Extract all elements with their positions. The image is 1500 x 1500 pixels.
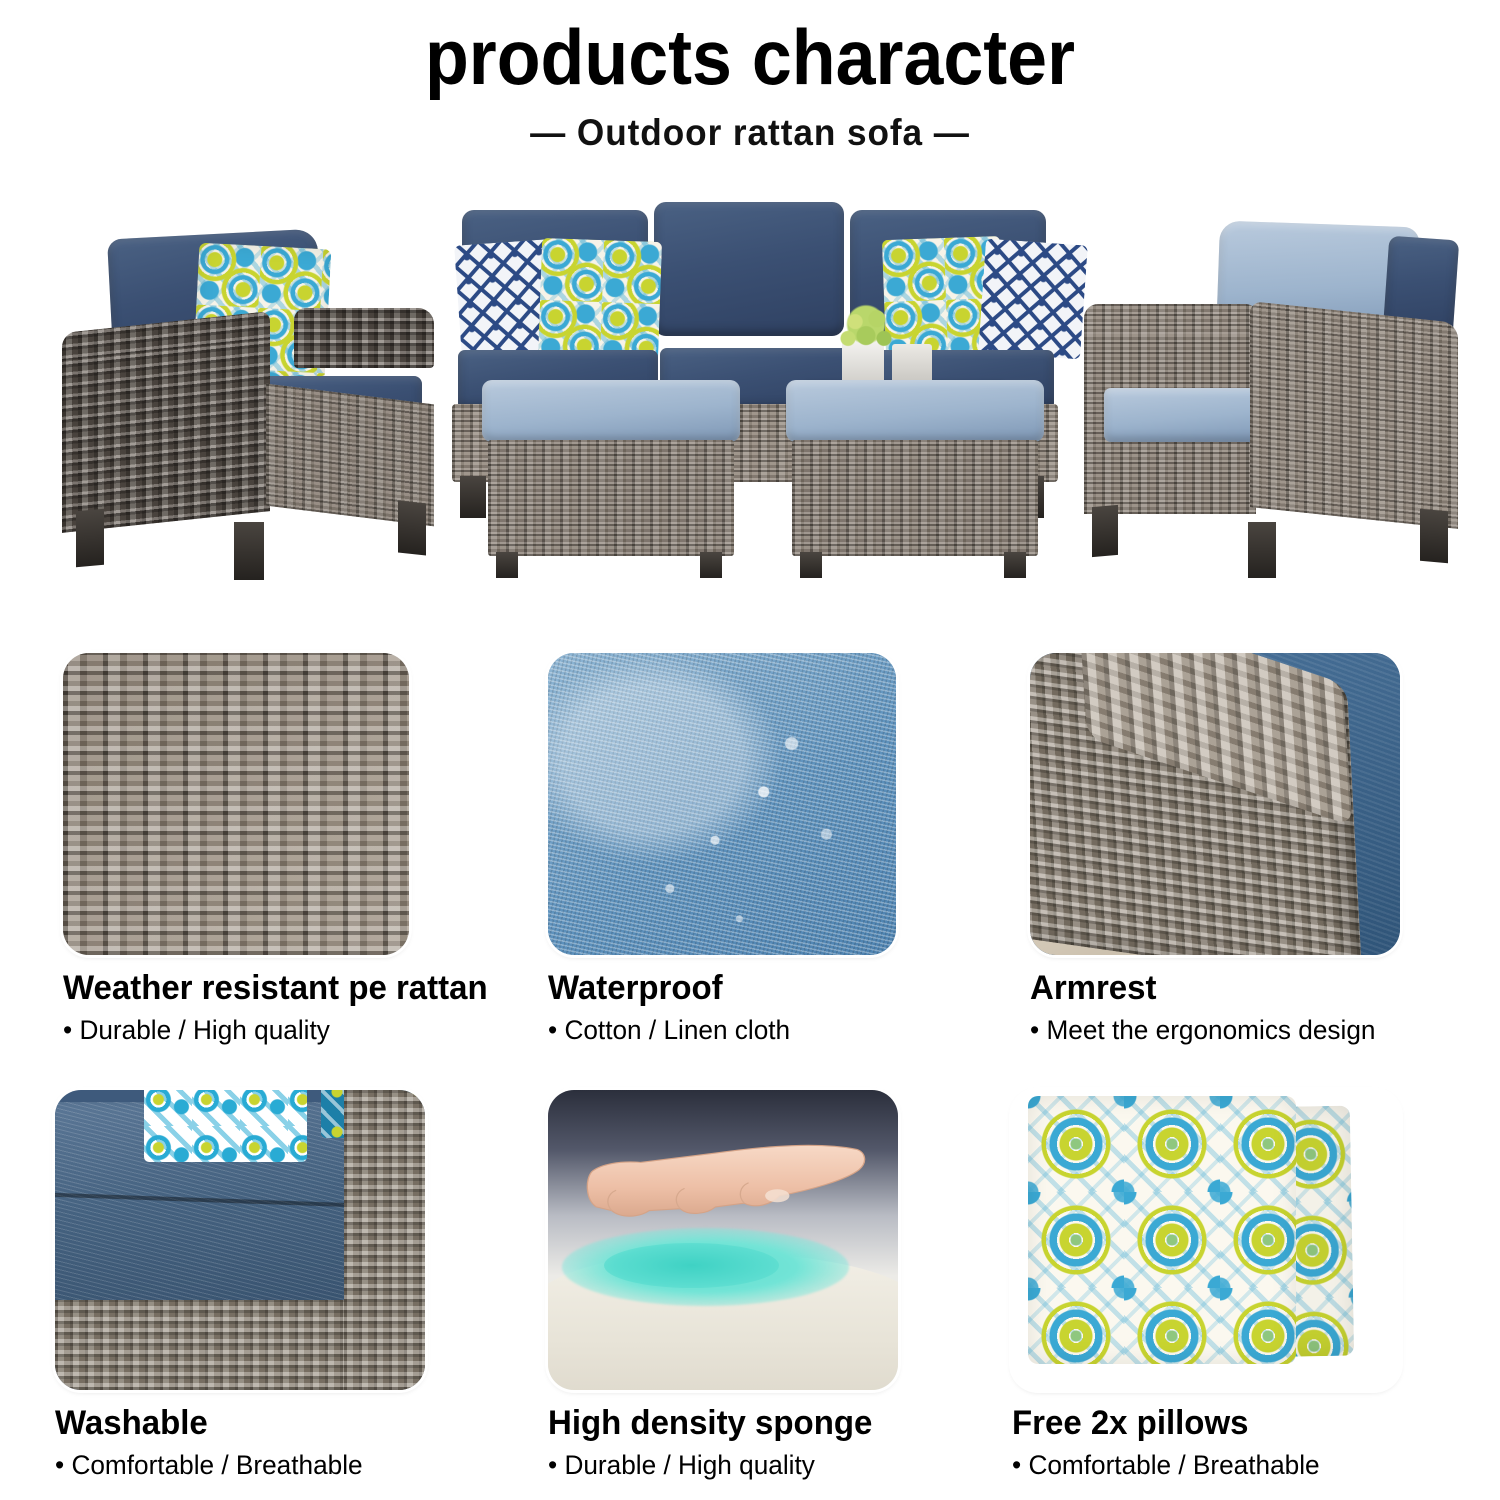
right-chair-seat-cushion <box>1104 388 1262 442</box>
right-armchair <box>1068 224 1468 584</box>
right-chair-leg-mid <box>1248 522 1276 578</box>
feature-image-waterproof <box>548 653 896 955</box>
ottoman-left-leg-2 <box>700 552 722 578</box>
feature-card-armrest: Armrest • Meet the ergonomics design <box>1030 653 1400 1046</box>
suzani-pillow-thumb <box>144 1090 307 1162</box>
hero-product-image <box>0 190 1500 620</box>
feature-card-weather-resistant-pe-rattan: Weather resistant pe rattan • Durable / … <box>63 653 409 1046</box>
feature-image-rattan-weave <box>63 653 409 955</box>
feature-image-armrest <box>1030 653 1400 955</box>
page-subtitle: — Outdoor rattan sofa — <box>38 112 1463 154</box>
left-chair-leg-mid <box>234 522 264 580</box>
left-chair-far-armrest <box>294 308 434 368</box>
pillow-front <box>1028 1096 1296 1364</box>
feature-image-washable <box>55 1090 425 1390</box>
sofa-suzani-pillow-left <box>538 238 662 364</box>
feature-bullet: • Durable / High quality <box>63 1015 399 1046</box>
right-chair-leg-right <box>1420 509 1448 563</box>
sofa-back-cushion-2 <box>654 202 844 336</box>
washable-cushion-photo <box>55 1090 425 1390</box>
feature-bullet: • Comfortable / Breathable <box>1012 1450 1388 1481</box>
feature-bullet: • Durable / High quality <box>548 1450 888 1481</box>
feature-title: Free 2x pillows <box>1012 1404 1388 1443</box>
feature-bullet: • Cotton / Linen cloth <box>548 1015 886 1046</box>
feature-card-high-density-sponge: High density sponge • Durable / High qua… <box>548 1090 898 1481</box>
feature-card-washable: Washable • Comfortable / Breathable <box>55 1090 425 1481</box>
ottoman-right-frame <box>792 440 1038 556</box>
ottoman-left-frame <box>488 440 734 556</box>
feature-title: Weather resistant pe rattan <box>63 969 399 1008</box>
feature-title: Waterproof <box>548 969 886 1008</box>
two-pillows-photo <box>1012 1090 1400 1390</box>
ottoman-right <box>782 380 1047 580</box>
feature-bullet: • Meet the ergonomics design <box>1030 1015 1389 1046</box>
water-beading-texture <box>548 653 896 955</box>
rattan-weave-texture <box>63 653 409 955</box>
ottoman-right-leg-2 <box>1004 552 1026 578</box>
ottoman-right-leg-1 <box>800 552 822 578</box>
feature-title: Armrest <box>1030 969 1389 1008</box>
ottoman-left-leg-1 <box>496 552 518 578</box>
left-chair-side-panel <box>62 339 270 533</box>
infographic-page: products character — Outdoor rattan sofa… <box>0 0 1500 1500</box>
potted-plant <box>830 302 902 358</box>
feature-title: High density sponge <box>548 1404 888 1443</box>
memory-foam-photo <box>548 1090 898 1390</box>
left-armchair <box>48 230 438 580</box>
header: products character — Outdoor rattan sofa… <box>0 0 1500 154</box>
feature-bullet: • Comfortable / Breathable <box>55 1450 414 1481</box>
ottoman-right-cushion <box>786 380 1044 442</box>
foam-teal-core <box>604 1243 779 1288</box>
right-chair-leg-left <box>1092 505 1118 557</box>
right-chair-side-panel <box>1250 329 1458 529</box>
hand-icon <box>583 1129 870 1231</box>
feature-image-sponge <box>548 1090 898 1390</box>
feature-card-waterproof: Waterproof • Cotton / Linen cloth <box>548 653 896 1046</box>
woven-armrest-photo <box>1030 653 1400 955</box>
feature-image-pillows <box>1012 1090 1400 1390</box>
left-chair-leg-right <box>398 501 426 556</box>
rattan-side-weave <box>344 1090 425 1390</box>
ottoman-left <box>478 380 743 580</box>
ottoman-left-cushion <box>482 380 740 442</box>
feature-title: Washable <box>55 1404 414 1443</box>
page-title: products character <box>60 18 1440 98</box>
left-chair-leg-front <box>76 509 104 567</box>
feature-card-free-2x-pillows: Free 2x pillows • Comfortable / Breathab… <box>1012 1090 1400 1481</box>
